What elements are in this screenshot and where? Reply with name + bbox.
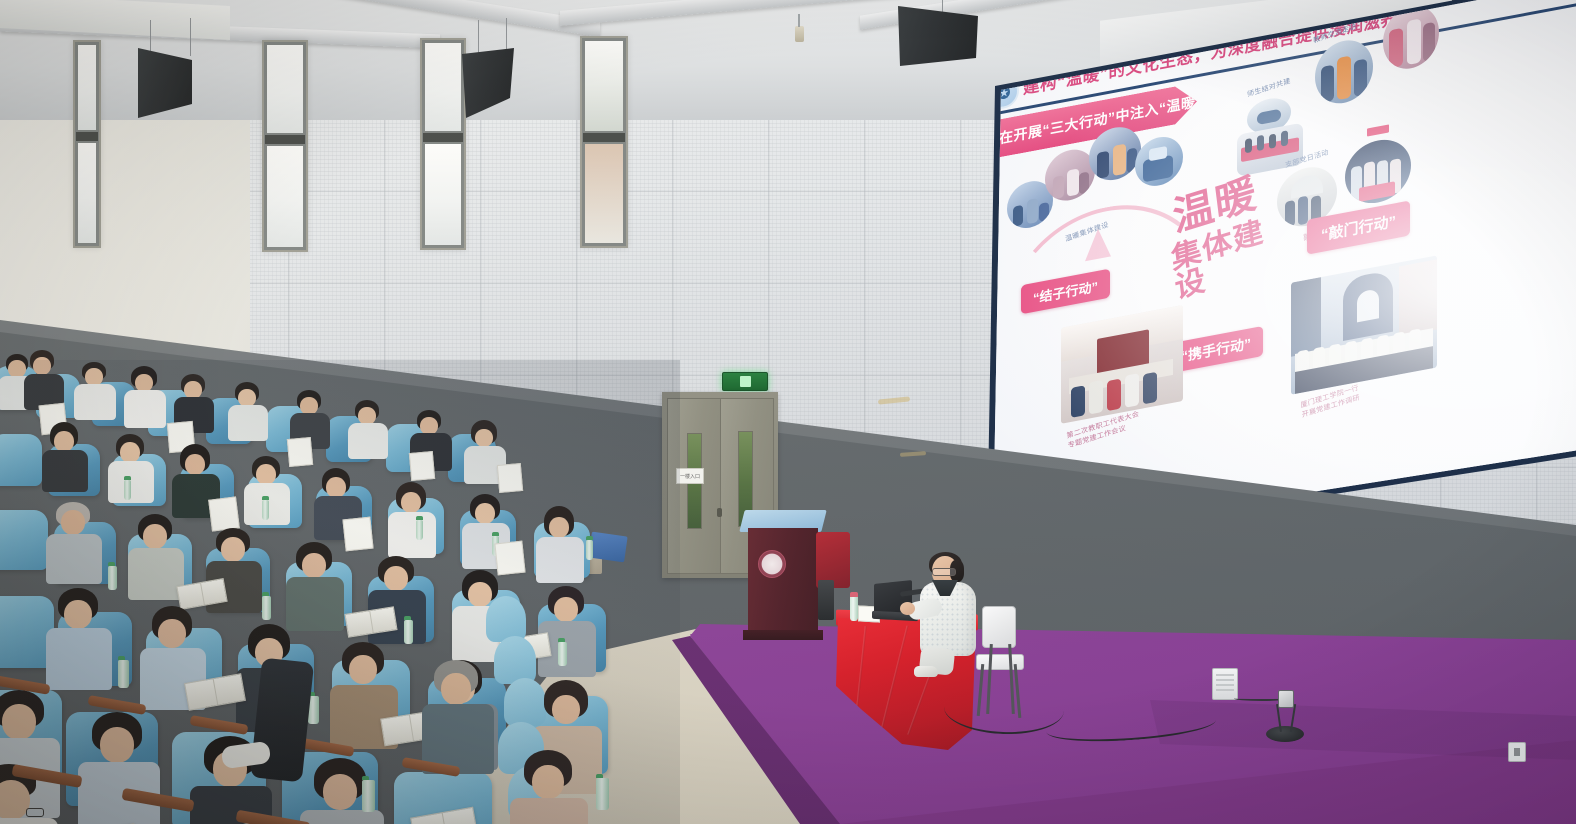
window	[580, 36, 628, 248]
door-sign: 一楼入口	[676, 468, 704, 484]
speaker-wire	[478, 20, 479, 54]
window	[420, 38, 466, 250]
slide-photo	[1135, 133, 1183, 190]
microphone-head	[1278, 690, 1294, 708]
lectern-base	[743, 630, 823, 640]
handout	[208, 496, 240, 531]
window	[262, 40, 308, 252]
speaker-wire	[150, 20, 151, 56]
handout	[409, 451, 435, 481]
water-bottle	[850, 595, 858, 621]
water-bottle	[596, 778, 609, 810]
presenter-shoe	[914, 666, 938, 677]
running-person-icon	[740, 376, 751, 387]
speaker-wire	[506, 18, 507, 54]
water-bottle	[118, 660, 129, 688]
university-crest-icon	[758, 550, 786, 578]
wall-vent-plate	[1212, 668, 1238, 700]
audience-seating	[0, 360, 680, 824]
water-bottle	[404, 620, 413, 644]
handout	[497, 463, 523, 493]
seat-headrest	[486, 596, 526, 642]
handout	[494, 541, 525, 576]
hanging-speaker	[898, 6, 978, 66]
handout	[342, 517, 373, 552]
power-outlet	[1508, 742, 1526, 762]
person-glyph-icon	[1085, 226, 1111, 261]
seat-headrest	[494, 636, 536, 684]
water-bottle	[262, 596, 271, 620]
water-bottle	[124, 480, 131, 500]
bottle-cap	[850, 592, 858, 597]
seat-headrest	[504, 678, 546, 726]
seat[interactable]	[0, 434, 42, 486]
mic-stand-base	[1266, 726, 1304, 742]
slide-caption: 师生结对共建	[1247, 76, 1292, 100]
sprinkler-icon	[795, 26, 804, 42]
equipment-stand	[818, 580, 834, 620]
handout	[287, 437, 313, 467]
water-bottle	[108, 566, 117, 590]
lectern-body	[748, 528, 818, 634]
presenter-hand	[900, 602, 915, 615]
slide-photo-tag	[1367, 124, 1389, 136]
slide-photo	[1291, 255, 1437, 394]
emergency-exit-sign	[722, 372, 768, 391]
glasses-icon	[932, 568, 956, 576]
speaker-wire	[190, 18, 191, 56]
slide-photo	[1061, 305, 1183, 424]
presenter	[916, 556, 984, 676]
seat[interactable]	[0, 510, 48, 570]
auditorium-scene: ✪ 建构“温暖”的文化生态，为深度融合提供浸润滋养 在开展“三大行动”中注入“温…	[0, 0, 1576, 824]
slide-photo	[1237, 122, 1303, 176]
window	[73, 40, 101, 248]
sprinkler-stem	[798, 14, 800, 27]
door-handle[interactable]	[717, 508, 722, 517]
slide-photo	[1345, 134, 1411, 208]
action-label-bottom: “携手行动”	[1169, 326, 1263, 374]
lectern	[746, 510, 820, 642]
slide-photo	[1045, 145, 1095, 204]
slide-photo	[1315, 35, 1373, 108]
glasses-icon	[26, 808, 44, 817]
calligraphy-text: 温暖 集体建设	[1173, 170, 1293, 297]
water-bottle	[362, 780, 375, 812]
water-bottle	[586, 540, 593, 560]
water-bottle	[558, 642, 567, 666]
water-bottle	[416, 520, 423, 540]
water-bottle	[262, 500, 269, 520]
chair-backrest	[982, 606, 1016, 648]
